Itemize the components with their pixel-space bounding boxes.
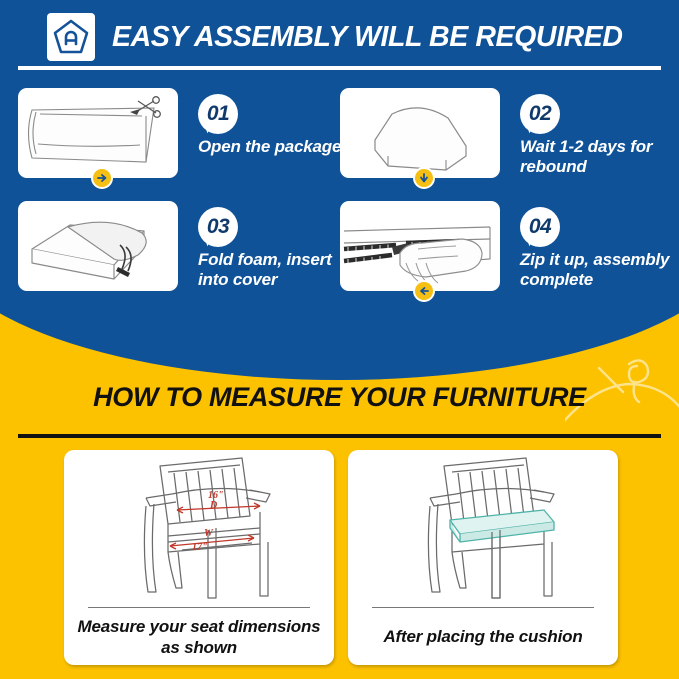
measure-panel-cushion: After placing the cushion <box>348 450 618 665</box>
step-03-number: 03 <box>198 207 238 247</box>
step-02-illustration-card <box>340 88 500 178</box>
assembly-header: EASY ASSEMBLY WILL BE REQUIRED <box>0 0 679 70</box>
assembly-step-02: 02 Wait 1-2 days for rebound <box>340 88 670 196</box>
panel-caption-divider <box>88 607 310 608</box>
step-04-number-badge: 04 <box>520 207 566 247</box>
measure-panel-dimensions: 16" D W 17" Measure your seat dimensions… <box>64 450 334 665</box>
measure-divider <box>18 434 661 438</box>
assembly-step-03: 03 Fold foam, insert into cover <box>18 201 348 309</box>
dimension-label-width-value: 17" <box>192 542 208 553</box>
step-02-number-badge: 02 <box>520 94 566 134</box>
hand-closing-zipper-icon <box>340 201 500 291</box>
dimension-label-width: W <box>204 528 214 539</box>
product-infographic: EASY ASSEMBLY WILL BE REQUIRED <box>0 0 679 679</box>
folding-foam-into-cover-icon <box>18 201 178 291</box>
step-03-illustration-card <box>18 201 178 291</box>
step-04-illustration-card <box>340 201 500 291</box>
patio-chair-with-seat-cushion-icon <box>348 450 618 605</box>
page-title: EASY ASSEMBLY WILL BE REQUIRED <box>112 14 667 60</box>
assembly-step-01: 01 Open the package <box>18 88 348 196</box>
step-04-label: Zip it up, assembly complete <box>520 250 672 289</box>
step-02-label: Wait 1-2 days for rebound <box>520 137 672 176</box>
step-01-illustration-card <box>18 88 178 178</box>
assembly-step-04: 04 Zip it up, assembly complete <box>340 201 670 309</box>
step-03-number-badge: 03 <box>198 207 244 247</box>
step-04-number: 04 <box>520 207 560 247</box>
step-01-label: Open the package <box>198 137 348 157</box>
measure-section-title: HOW TO MEASURE YOUR FURNITURE <box>0 382 679 413</box>
step-03-label: Fold foam, insert into cover <box>198 250 350 289</box>
step-04-arrow-left-icon <box>413 280 435 302</box>
patio-chair-with-dimension-callouts-icon: 16" D W 17" <box>64 450 334 605</box>
step-02-arrow-down-icon <box>413 167 435 189</box>
dimension-label-depth: D <box>209 500 217 511</box>
expanded-foam-cushion-icon <box>340 88 500 178</box>
vacuum-sealed-package-icon <box>18 88 178 178</box>
step-01-number: 01 <box>198 94 238 134</box>
step-02-number: 02 <box>520 94 560 134</box>
step-01-number-badge: 01 <box>198 94 244 134</box>
panel-caption-divider <box>372 607 594 608</box>
header-divider <box>18 66 661 70</box>
step-01-arrow-right-icon <box>91 167 113 189</box>
house-pentagon-logo-icon <box>47 13 95 61</box>
panel-caption-left: Measure your seat dimensions as shown <box>74 616 324 658</box>
panel-caption-right: After placing the cushion <box>358 626 608 647</box>
assembly-section: EASY ASSEMBLY WILL BE REQUIRED <box>0 0 679 380</box>
